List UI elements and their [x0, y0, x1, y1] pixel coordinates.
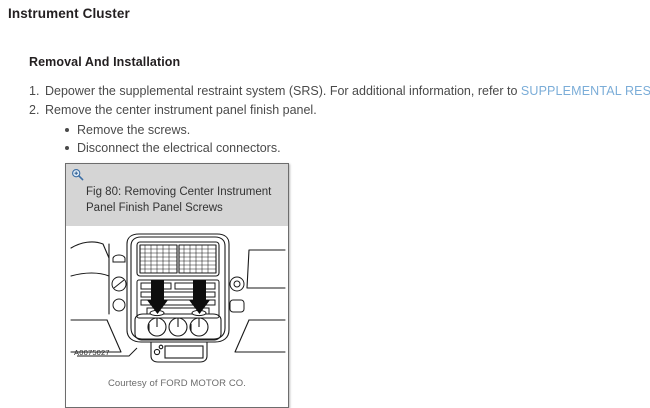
step-text: Depower the supplemental restraint syste…	[45, 84, 521, 98]
step-number: 2.	[29, 101, 39, 120]
figure-header: Fig 80: Removing Center Instrument Panel…	[66, 164, 288, 226]
list-item: Remove the screws.	[63, 121, 639, 139]
figure-part-code: A0075027	[74, 348, 110, 357]
figure-panel[interactable]: Fig 80: Removing Center Instrument Panel…	[65, 163, 289, 408]
supplemental-restraint-system-link[interactable]: SUPPLEMENTAL RESTRAINT SYSTEM	[521, 84, 650, 98]
page-title: Instrument Cluster	[8, 6, 130, 21]
list-item: Disconnect the electrical connectors.	[63, 139, 639, 157]
figure-caption: Fig 80: Removing Center Instrument Panel…	[86, 184, 282, 216]
figure-body: A0075027 Courtesy of FORD MOTOR CO.	[66, 226, 288, 407]
bullet-text: Disconnect the electrical connectors.	[77, 141, 281, 155]
step-number: 1.	[29, 82, 39, 101]
step-text: Remove the center instrument panel finis…	[45, 103, 317, 117]
document-page: Instrument Cluster Removal And Installat…	[0, 0, 650, 403]
list-item: 1. Depower the supplemental restraint sy…	[29, 82, 639, 101]
bullet-dot-icon	[65, 128, 69, 132]
procedure-steps-list: 1. Depower the supplemental restraint sy…	[29, 82, 639, 157]
bullet-dot-icon	[65, 146, 69, 150]
sub-bullet-list: Remove the screws. Disconnect the electr…	[45, 121, 639, 157]
zoom-in-magnifier-icon[interactable]	[71, 168, 84, 181]
figure-courtesy-text: Courtesy of FORD MOTOR CO.	[66, 378, 288, 389]
bullet-text: Remove the screws.	[77, 123, 190, 137]
list-item: 2. Remove the center instrument panel fi…	[29, 101, 639, 157]
section-heading: Removal And Installation	[29, 55, 180, 69]
